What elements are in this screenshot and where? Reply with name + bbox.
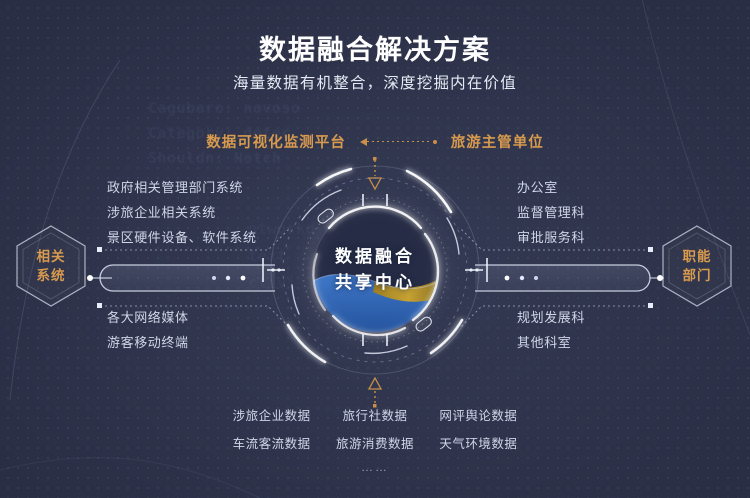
grid-item: 天气环境数据 — [432, 433, 525, 452]
top-flow-row: 数据可视化监测平台 旅游主管单位 — [0, 131, 750, 152]
arrow-left-dotted-icon — [360, 138, 437, 146]
grid-item: 旅游消费数据 — [328, 433, 421, 452]
tourism-authority-label: 旅游主管单位 — [451, 131, 544, 152]
list-item: 规划发展科 — [517, 305, 585, 330]
data-fusion-hub: 数据融合 共享中心 — [255, 150, 495, 390]
list-item: 涉旅企业相关系统 — [107, 200, 257, 225]
grid-item: 旅行社数据 — [328, 405, 421, 424]
list-item: 景区硬件设备、软件系统 — [107, 225, 257, 250]
list-item: 办公室 — [517, 175, 585, 200]
bottom-ellipsis: …… — [0, 460, 750, 474]
left-bottom-source-list: 各大网络媒体 游客移动终端 — [107, 305, 189, 355]
list-item: 政府相关管理部门系统 — [107, 175, 257, 200]
grid-item: 网评舆论数据 — [432, 405, 525, 424]
hex-line-1: 职能 — [683, 247, 712, 266]
hex-line-2: 系统 — [37, 266, 66, 285]
infographic-canvas: Cagubaro: novoso Category: detec Shouldn… — [0, 0, 750, 498]
list-item: 各大网络媒体 — [107, 305, 189, 330]
hex-line-2: 部门 — [683, 266, 712, 285]
bottom-data-source-grid: 涉旅企业数据 旅行社数据 网评舆论数据 车流客流数据 旅游消费数据 天气环境数据 — [225, 405, 525, 452]
list-item: 监督管理科 — [517, 200, 585, 225]
hexagon-related-systems[interactable]: 相关 系统 — [14, 224, 88, 308]
hexagon-left-label: 相关 系统 — [37, 247, 66, 285]
right-top-department-list: 办公室 监督管理科 审批服务科 — [517, 175, 585, 250]
hex-line-1: 相关 — [37, 247, 66, 266]
list-item: 审批服务科 — [517, 225, 585, 250]
list-item: 其他科室 — [517, 330, 585, 355]
hexagon-right-label: 职能 部门 — [683, 247, 712, 285]
right-bottom-department-list: 规划发展科 其他科室 — [517, 305, 585, 355]
grid-item: 涉旅企业数据 — [225, 405, 318, 424]
left-top-source-list: 政府相关管理部门系统 涉旅企业相关系统 景区硬件设备、软件系统 — [107, 175, 257, 250]
hexagon-functional-departments[interactable]: 职能 部门 — [660, 224, 734, 308]
hub-rings-graphic — [255, 150, 495, 390]
grid-item: 车流客流数据 — [225, 433, 318, 452]
ghost-line: Cagubaro: novoso — [148, 96, 318, 121]
page-title: 数据融合解决方案 — [0, 28, 750, 67]
visualization-platform-label: 数据可视化监测平台 — [206, 131, 346, 152]
list-item: 游客移动终端 — [107, 330, 189, 355]
page-subtitle: 海量数据有机整合，深度挖掘内在价值 — [0, 71, 750, 93]
